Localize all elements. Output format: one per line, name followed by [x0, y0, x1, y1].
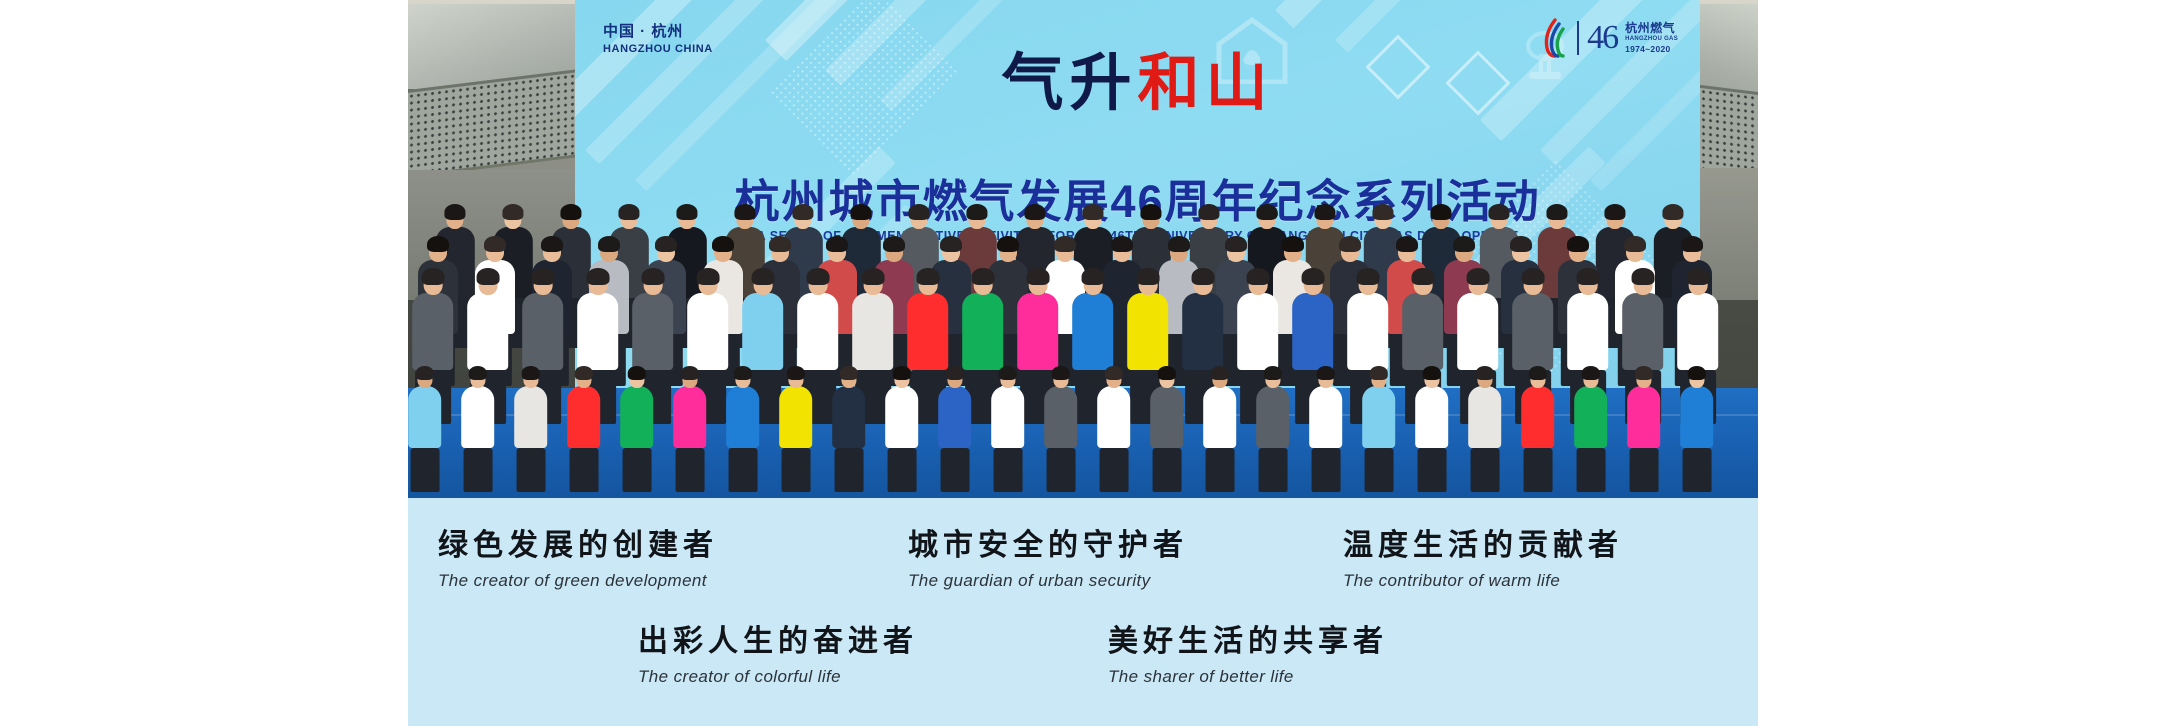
person-legs: [410, 448, 439, 492]
person-hair: [793, 204, 814, 220]
person-legs: [940, 448, 969, 492]
person-torso: [467, 293, 509, 370]
person-hair: [1191, 268, 1214, 285]
person-legs: [1152, 448, 1181, 492]
slogan-row-2: 出彩人生的奋进者The creator of colorful life美好生活…: [438, 616, 1728, 687]
person-torso: [1127, 293, 1169, 370]
people-group: [408, 168, 1758, 498]
person-hair: [1356, 268, 1379, 285]
person-torso: [408, 386, 442, 448]
person: [1415, 364, 1449, 492]
person-legs: [834, 448, 863, 492]
person-hair: [1105, 366, 1123, 380]
person-torso: [687, 293, 729, 370]
person-hair: [586, 268, 609, 285]
person-legs: [1205, 448, 1234, 492]
person-hair: [445, 204, 466, 220]
content-panel: 中国 · 杭州 HANGZHOU CHINA 46 杭州燃气: [408, 0, 1758, 726]
person-hair: [696, 268, 719, 285]
person-legs: [1417, 448, 1446, 492]
person: [726, 364, 760, 492]
slogan-en: The contributor of warm life: [1343, 571, 1728, 591]
person-hair: [1688, 366, 1706, 380]
person-torso: [567, 386, 601, 448]
person-torso: [632, 293, 674, 370]
person-hair: [712, 236, 734, 253]
person-torso: [938, 386, 972, 448]
slogan-cn: 出彩人生的奋进者: [638, 616, 1108, 660]
person-hair: [1582, 366, 1600, 380]
person-hair: [883, 236, 905, 253]
person-hair: [1282, 236, 1304, 253]
person-hair: [1211, 366, 1229, 380]
person-legs: [463, 448, 492, 492]
person-hair: [427, 236, 449, 253]
person: [1150, 364, 1184, 492]
event-brandmark: 气升和山: [575, 52, 1700, 114]
person-hair: [893, 366, 911, 380]
person-torso: [1512, 293, 1554, 370]
person-hair: [1431, 204, 1452, 220]
person-hair: [946, 366, 964, 380]
person-legs: [1046, 448, 1075, 492]
person: [1521, 364, 1555, 492]
person-torso: [1622, 293, 1664, 370]
person-torso: [522, 293, 564, 370]
slogan-cn: 城市安全的守护者: [908, 520, 1343, 564]
person-torso: [1150, 386, 1184, 448]
person-torso: [1182, 293, 1224, 370]
person-hair: [1681, 236, 1703, 253]
person-hair: [1141, 204, 1162, 220]
person-hair: [851, 204, 872, 220]
person-hair: [575, 366, 593, 380]
person: [779, 364, 813, 492]
person-hair: [1605, 204, 1626, 220]
person-legs: [1682, 448, 1711, 492]
company-name-en: HANGZHOU GAS: [1625, 36, 1678, 44]
person-hair: [787, 366, 805, 380]
person-hair: [769, 236, 791, 253]
person-torso: [1677, 293, 1719, 370]
person-hair: [1081, 268, 1104, 285]
person: [991, 364, 1025, 492]
person-hair: [541, 236, 563, 253]
person: [1256, 364, 1290, 492]
person-hair: [628, 366, 646, 380]
person-legs: [569, 448, 598, 492]
brandmark-red: 和山: [1138, 46, 1274, 119]
person-torso: [885, 386, 919, 448]
person-hair: [1339, 236, 1361, 253]
person-torso: [1680, 386, 1714, 448]
slogan-cn: 美好生活的共享者: [1108, 616, 1388, 660]
person-hair: [1567, 236, 1589, 253]
person-legs: [1311, 448, 1340, 492]
slogan-row-1: 绿色发展的创建者The creator of green development…: [438, 520, 1728, 591]
person-hair: [1411, 268, 1434, 285]
slogan-item: 出彩人生的奋进者The creator of colorful life: [638, 616, 1108, 687]
person: [1680, 364, 1714, 492]
person: [1309, 364, 1343, 492]
person-legs: [1258, 448, 1287, 492]
brandmark-dark: 气升: [1001, 46, 1137, 119]
person-torso: [1347, 293, 1389, 370]
person-torso: [1072, 293, 1114, 370]
screenshot-root: 中国 · 杭州 HANGZHOU CHINA 46 杭州燃气: [0, 0, 2179, 726]
person-torso: [1574, 386, 1608, 448]
person-hair: [1052, 366, 1070, 380]
person-hair: [1111, 236, 1133, 253]
person: [514, 364, 548, 492]
person-legs: [622, 448, 651, 492]
person-hair: [967, 204, 988, 220]
person-hair: [1264, 366, 1282, 380]
person-hair: [826, 236, 848, 253]
person-torso: [514, 386, 548, 448]
slogan-en: The guardian of urban security: [908, 571, 1343, 591]
person: [1574, 364, 1608, 492]
person-legs: [1364, 448, 1393, 492]
person-hair: [734, 366, 752, 380]
anniversary-lockup: 46 杭州燃气 HANGZHOU GAS 1974~2020: [1577, 21, 1678, 55]
slogan-item: 美好生活的共享者The sharer of better life: [1108, 616, 1388, 687]
person-hair: [531, 268, 554, 285]
person-legs: [993, 448, 1022, 492]
slogan-item: 温度生活的贡献者The contributor of warm life: [1343, 520, 1728, 591]
chevron-stripe: [1335, 0, 1532, 53]
person-hair: [1521, 268, 1544, 285]
person-hair: [416, 366, 434, 380]
person-torso: [726, 386, 760, 448]
person-torso: [1457, 293, 1499, 370]
person-hair: [1547, 204, 1568, 220]
person-torso: [742, 293, 784, 370]
person-torso: [832, 386, 866, 448]
person-hair: [522, 366, 540, 380]
location-cn: 中国 · 杭州: [603, 22, 713, 42]
person-legs: [1523, 448, 1552, 492]
event-group-photo: 中国 · 杭州 HANGZHOU CHINA 46 杭州燃气: [408, 0, 1758, 498]
slogan-en: The creator of colorful life: [638, 667, 1108, 687]
person-hair: [1370, 366, 1388, 380]
person-torso: [1415, 386, 1449, 448]
person-hair: [1635, 366, 1653, 380]
person-hair: [1246, 268, 1269, 285]
person: [461, 364, 495, 492]
person-hair: [1054, 236, 1076, 253]
person-torso: [1203, 386, 1237, 448]
person-torso: [797, 293, 839, 370]
person-hair: [909, 204, 930, 220]
person-torso: [620, 386, 654, 448]
person: [885, 364, 919, 492]
person-torso: [412, 293, 454, 370]
person-hair: [999, 366, 1017, 380]
person: [938, 364, 972, 492]
person: [408, 364, 442, 492]
person-hair: [561, 204, 582, 220]
person-torso: [907, 293, 949, 370]
person-hair: [971, 268, 994, 285]
slogan-cn: 温度生活的贡献者: [1343, 520, 1728, 564]
slogan-item: 绿色发展的创建者The creator of green development: [438, 520, 908, 591]
person-legs: [1099, 448, 1128, 492]
person-hair: [1301, 268, 1324, 285]
person-hair: [1476, 366, 1494, 380]
person-hair: [1026, 268, 1049, 285]
person-hair: [1317, 366, 1335, 380]
person-hair: [840, 366, 858, 380]
person: [1362, 364, 1396, 492]
person-hair: [1257, 204, 1278, 220]
slogan-item: 城市安全的守护者The guardian of urban security: [908, 520, 1343, 591]
person-torso: [1362, 386, 1396, 448]
person-legs: [728, 448, 757, 492]
person: [1468, 364, 1502, 492]
person: [1097, 364, 1131, 492]
person-hair: [1631, 268, 1654, 285]
person-legs: [1629, 448, 1658, 492]
person-legs: [516, 448, 545, 492]
person-hair: [1686, 268, 1709, 285]
person-hair: [1083, 204, 1104, 220]
person: [1203, 364, 1237, 492]
slogan-cn: 绿色发展的创建者: [438, 520, 908, 564]
person-hair: [619, 204, 640, 220]
person-hair: [641, 268, 664, 285]
person: [567, 364, 601, 492]
person-hair: [1529, 366, 1547, 380]
person-torso: [1627, 386, 1661, 448]
person-hair: [655, 236, 677, 253]
anniversary-number: 46: [1587, 21, 1617, 55]
person-torso: [1256, 386, 1290, 448]
person-torso: [1402, 293, 1444, 370]
person-torso: [991, 386, 1025, 448]
person-hair: [940, 236, 962, 253]
person-torso: [1044, 386, 1078, 448]
person-hair: [1373, 204, 1394, 220]
person: [832, 364, 866, 492]
person-hair: [1158, 366, 1176, 380]
person: [673, 364, 707, 492]
person-torso: [673, 386, 707, 448]
company-name-block: 杭州燃气 HANGZHOU GAS 1974~2020: [1625, 21, 1678, 54]
slogan-en: The creator of green development: [438, 571, 908, 591]
person-hair: [469, 366, 487, 380]
person-hair: [1315, 204, 1336, 220]
person-hair: [1025, 204, 1046, 220]
person-torso: [1521, 386, 1555, 448]
person-hair: [1168, 236, 1190, 253]
person-torso: [1292, 293, 1334, 370]
person-hair: [1423, 366, 1441, 380]
person-hair: [1199, 204, 1220, 220]
person-torso: [779, 386, 813, 448]
person-legs: [1576, 448, 1605, 492]
person-hair: [861, 268, 884, 285]
person: [1627, 364, 1661, 492]
person-legs: [887, 448, 916, 492]
person-hair: [1453, 236, 1475, 253]
person-hair: [484, 236, 506, 253]
person-torso: [1097, 386, 1131, 448]
person-torso: [962, 293, 1004, 370]
person-torso: [1468, 386, 1502, 448]
person-torso: [852, 293, 894, 370]
logo-divider: [1577, 21, 1579, 55]
person-hair: [806, 268, 829, 285]
person-torso: [1309, 386, 1343, 448]
person-torso: [1567, 293, 1609, 370]
person-hair: [598, 236, 620, 253]
slogan-en: The sharer of better life: [1108, 667, 1388, 687]
person-legs: [781, 448, 810, 492]
company-name-cn: 杭州燃气: [1625, 21, 1678, 36]
person: [620, 364, 654, 492]
person-torso: [577, 293, 619, 370]
person-legs: [675, 448, 704, 492]
person-hair: [1225, 236, 1247, 253]
person-hair: [421, 268, 444, 285]
person-hair: [476, 268, 499, 285]
person-hair: [751, 268, 774, 285]
person-hair: [1489, 204, 1510, 220]
person-hair: [677, 204, 698, 220]
person-hair: [503, 204, 524, 220]
person-hair: [1576, 268, 1599, 285]
person-torso: [461, 386, 495, 448]
person-hair: [1510, 236, 1532, 253]
person-hair: [1624, 236, 1646, 253]
slogan-panel: 绿色发展的创建者The creator of green development…: [408, 498, 1758, 726]
person-legs: [1470, 448, 1499, 492]
person-hair: [1396, 236, 1418, 253]
person-hair: [916, 268, 939, 285]
person-hair: [735, 204, 756, 220]
person-hair: [1466, 268, 1489, 285]
person: [1044, 364, 1078, 492]
person-torso: [1017, 293, 1059, 370]
person-hair: [997, 236, 1019, 253]
person-hair: [1136, 268, 1159, 285]
person-hair: [1663, 204, 1684, 220]
person-hair: [681, 366, 699, 380]
person-torso: [1237, 293, 1279, 370]
